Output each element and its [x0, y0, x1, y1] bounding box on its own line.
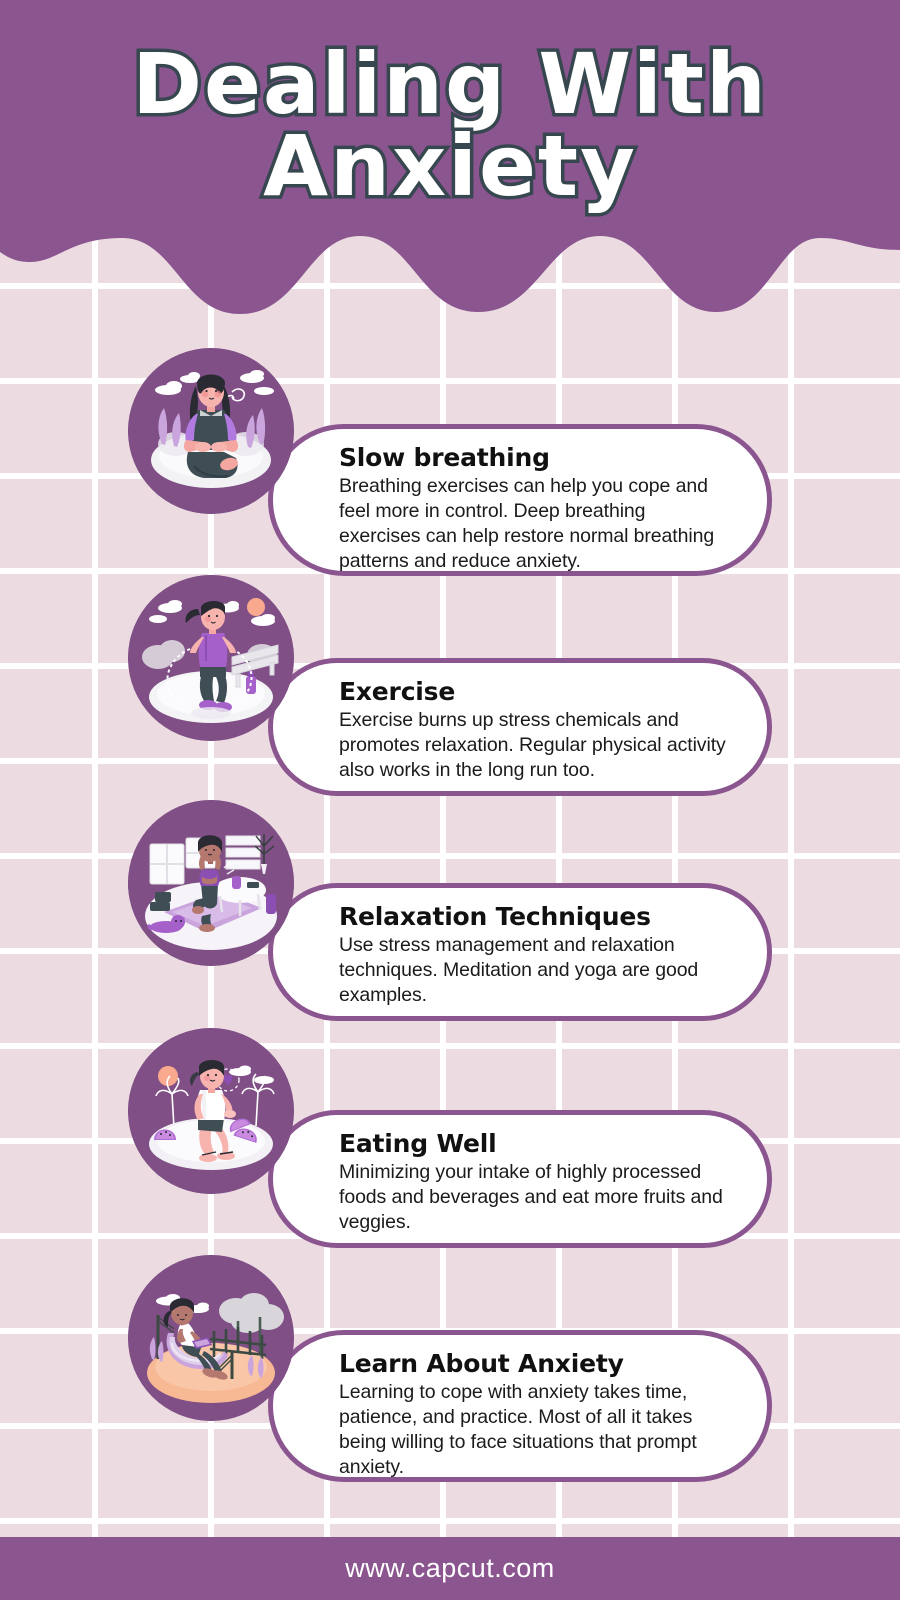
- header-banner: Dealing With Anxiety: [0, 0, 900, 330]
- tip-card[interactable]: Learn About Anxiety Learning to cope wit…: [268, 1330, 772, 1482]
- tip-title: Slow breathing: [339, 443, 727, 472]
- meditation-illustration: [128, 348, 294, 514]
- tip-card[interactable]: Exercise Exercise burns up stress chemic…: [268, 658, 772, 796]
- tip-card[interactable]: Eating Well Minimizing your intake of hi…: [268, 1110, 772, 1248]
- tip-body: Breathing exercises can help you cope an…: [339, 474, 727, 574]
- tip-title: Exercise: [339, 677, 727, 706]
- tip-card[interactable]: Relaxation Techniques Use stress managem…: [268, 883, 772, 1021]
- tip-card[interactable]: Slow breathing Breathing exercises can h…: [268, 424, 772, 576]
- jump-rope-illustration: [128, 575, 294, 741]
- tip-body: Learning to cope with anxiety takes time…: [339, 1380, 727, 1480]
- tip-body: Exercise burns up stress chemicals and p…: [339, 708, 727, 783]
- title-line-1: Dealing With: [132, 43, 768, 125]
- tip-title: Relaxation Techniques: [339, 902, 727, 931]
- poster-title: Dealing With Anxiety: [0, 0, 900, 250]
- yoga-illustration: [128, 800, 294, 966]
- footer-website-label[interactable]: www.capcut.com: [345, 1553, 555, 1584]
- infographic-poster: Dealing With Anxiety Slow breathing Brea…: [0, 0, 900, 1600]
- hammock-reading-illustration: [128, 1255, 294, 1421]
- tip-title: Learn About Anxiety: [339, 1349, 727, 1378]
- healthy-eating-illustration: [128, 1028, 294, 1194]
- tip-body: Use stress management and relaxation tec…: [339, 933, 727, 1008]
- title-line-2: Anxiety: [263, 125, 637, 207]
- footer-bar: www.capcut.com: [0, 1537, 900, 1600]
- tip-title: Eating Well: [339, 1129, 727, 1158]
- tip-body: Minimizing your intake of highly process…: [339, 1160, 727, 1235]
